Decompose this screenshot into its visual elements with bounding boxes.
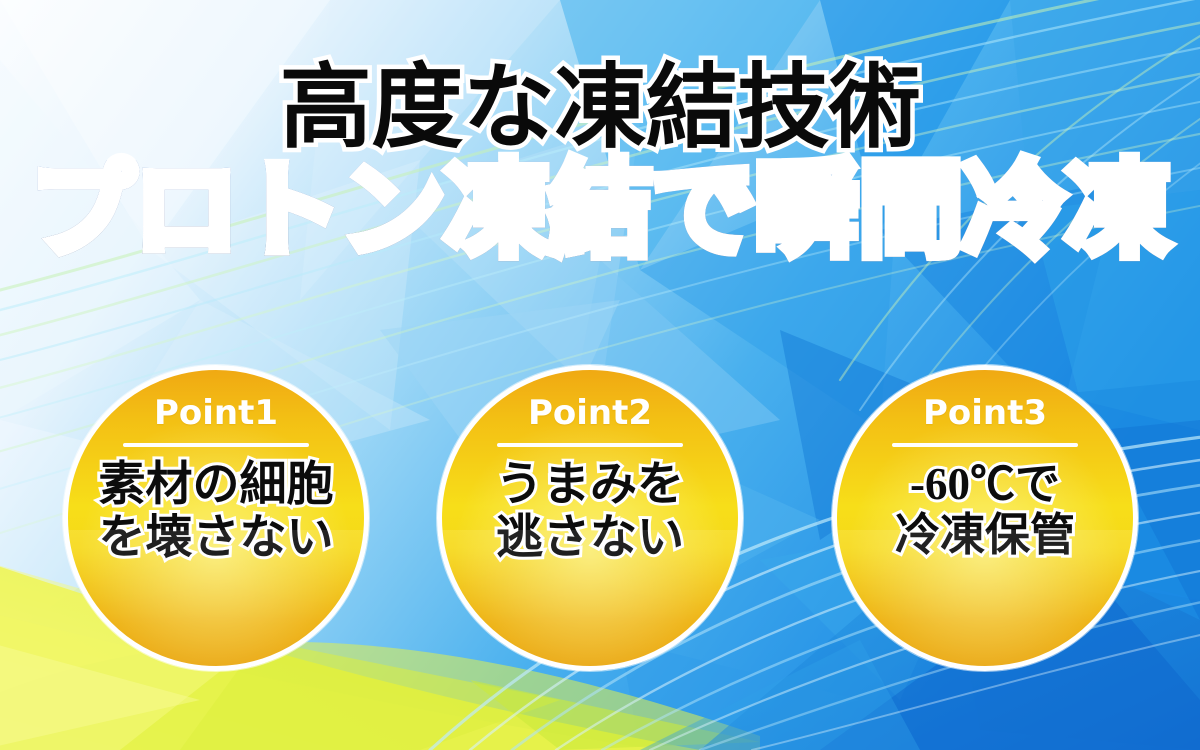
promo-banner: 高度な凍結技術 プロトン凍結で瞬間冷凍 Point1 素材の細胞 を壊さない P…	[0, 0, 1200, 750]
point-body-2: うまみを 逃さない	[496, 459, 684, 565]
point-circle-3: Point3 -60℃で 冷凍保管	[832, 365, 1138, 671]
point-divider-2	[497, 443, 683, 447]
point-divider-3	[892, 443, 1078, 447]
point-body-1: 素材の細胞 を壊さない	[99, 459, 334, 565]
point-label-1: Point1	[154, 396, 278, 430]
point-label-2: Point2	[528, 396, 652, 430]
point-divider-1	[123, 443, 309, 447]
point-circle-2: Point2 うまみを 逃さない	[437, 365, 743, 671]
point-circle-1: Point1 素材の細胞 を壊さない	[63, 365, 369, 671]
point-body-3: -60℃で 冷凍保管	[895, 459, 1075, 561]
point-label-3: Point3	[923, 396, 1047, 430]
